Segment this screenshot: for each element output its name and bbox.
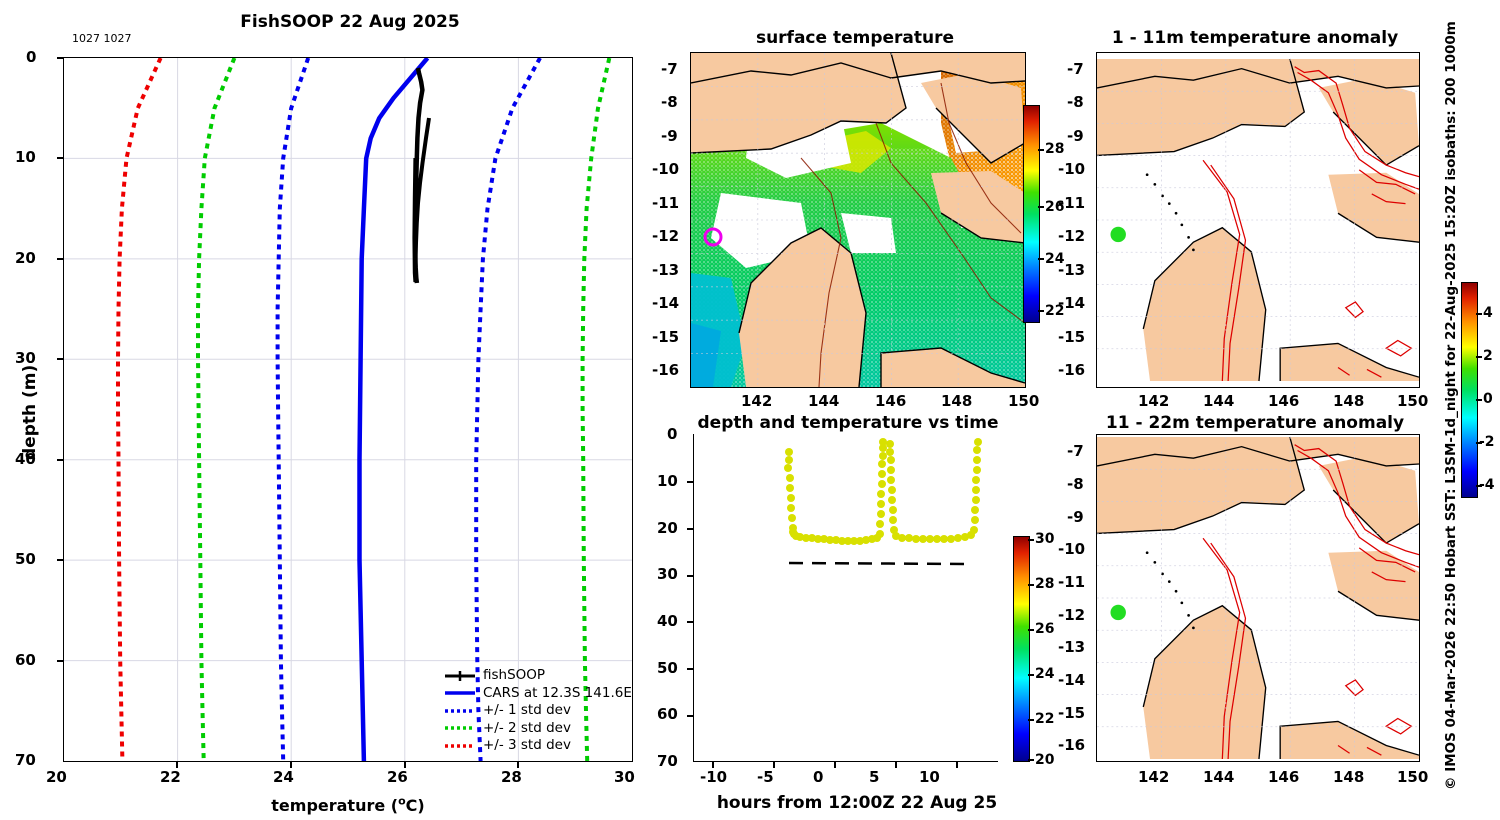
profile-curves [64, 58, 632, 761]
profile-xtick-mark [517, 762, 519, 768]
ts-ytick-0: 0 [667, 425, 677, 443]
sst-ytick--12: -12 [652, 227, 679, 245]
an2-ytick--15: -15 [1058, 704, 1085, 722]
profile-xtick-26: 26 [387, 768, 408, 786]
legend-swatch-dotted-red [443, 739, 477, 753]
profile-ytick-60: 60 [15, 651, 36, 669]
ts-xtick-mark [773, 762, 775, 768]
sst-map[interactable] [690, 52, 1026, 388]
sst-xtick-144: 144 [808, 392, 839, 410]
an1-ytick--9: -9 [1067, 127, 1084, 145]
ts-cb-tick-20: 20 [1035, 752, 1054, 768]
profile-ytick-mark [57, 660, 63, 662]
sst-ytick--9: -9 [661, 127, 678, 145]
legend-label: +/- 3 std dev [483, 737, 571, 755]
profile-xtick-mark [404, 762, 406, 768]
ts-ytick-mark [687, 528, 693, 530]
an2-xtick-148: 148 [1333, 768, 1364, 786]
an1-ytick--16: -16 [1058, 361, 1085, 379]
an2-ytick--14: -14 [1058, 671, 1085, 689]
legend-label: CARS at 12.3S 141.6E [483, 685, 632, 703]
ts-cb-mark [1028, 539, 1034, 541]
an2-xtick-150: 150 [1397, 768, 1428, 786]
an1-xtick-150: 150 [1397, 392, 1428, 410]
sst-map-title: surface temperature [690, 28, 1020, 48]
ts-xtick-mark [956, 762, 958, 768]
anomaly-bottom-title: 11 - 22m temperature anomaly [1090, 413, 1420, 433]
an-cb-mark [1476, 399, 1482, 401]
ts-ytick-30: 30 [657, 565, 678, 583]
profile-ytick-mark [57, 459, 63, 461]
profile-ytick-0: 0 [26, 48, 36, 66]
ts-xtick-mark [712, 762, 714, 768]
legend-item-3std[interactable]: +/- 3 std dev [443, 737, 632, 755]
ts-cb-mark [1028, 719, 1034, 721]
ts-xaxis-label: hours from 12:00Z 22 Aug 25 [707, 793, 1007, 813]
ts-cb-tick-28: 28 [1035, 576, 1054, 592]
sst-xtick-148: 148 [941, 392, 972, 410]
timeseries-plot-area [693, 434, 998, 762]
profile-ytick-20: 20 [15, 249, 36, 267]
ts-cb-tick-24: 24 [1035, 666, 1054, 682]
ts-xtick-5: 5 [869, 768, 879, 786]
an1-xtick-142: 142 [1138, 392, 1169, 410]
legend-swatch-dotted-blue [443, 704, 477, 718]
an1-ytick--13: -13 [1058, 261, 1085, 279]
sst-cb-mark [1038, 149, 1044, 151]
profile-xtick-mark [176, 762, 178, 768]
sst-ytick--7: -7 [661, 60, 678, 78]
an-cb-tick-0: 0 [1483, 391, 1493, 407]
profile-xtick-mark [290, 762, 292, 768]
profile-ytick-70: 70 [15, 751, 36, 769]
ts-cb-mark [1028, 584, 1034, 586]
an2-xtick-144: 144 [1203, 768, 1234, 786]
ts-cb-tick-26: 26 [1035, 621, 1054, 637]
sst-cb-tick-28: 28 [1045, 141, 1064, 157]
an1-ytick--11: -11 [1058, 194, 1085, 212]
an2-xtick-146: 146 [1268, 768, 1299, 786]
figure-credit: © IMOS 04-Mar-2026 22:50 Hobart SST: L3S… [1443, 21, 1459, 790]
an1-ytick--14: -14 [1058, 294, 1085, 312]
ts-cb-mark [1028, 674, 1034, 676]
profile-ytick-mark [57, 157, 63, 159]
an-cb-tick-4: 4 [1483, 305, 1493, 321]
profile-plot-area [63, 57, 633, 762]
ts-ytick-mark [687, 575, 693, 577]
bottom-depth-line [789, 563, 972, 564]
an1-ytick--10: -10 [1058, 160, 1085, 178]
legend-label: +/- 1 std dev [483, 702, 571, 720]
an2-ytick--13: -13 [1058, 638, 1085, 656]
an2-ytick--11: -11 [1058, 573, 1085, 591]
profile-xtick-30: 30 [614, 768, 635, 786]
anomaly-top-title: 1 - 11m temperature anomaly [1090, 28, 1420, 48]
profile-xtick-22: 22 [160, 768, 181, 786]
sst-ytick--11: -11 [652, 194, 679, 212]
legend-label: +/- 2 std dev [483, 720, 571, 738]
station-marker-icon [1110, 605, 1125, 620]
ts-ytick-40: 40 [657, 612, 678, 630]
sst-xtick-150: 150 [1008, 392, 1039, 410]
legend-swatch-solid-black [443, 669, 477, 683]
sst-ytick--14: -14 [652, 294, 679, 312]
ts-ytick-10: 10 [657, 472, 678, 490]
profile-ytick-10: 10 [15, 148, 36, 166]
timeseries-scatter [694, 434, 998, 761]
ts-cb-mark [1028, 629, 1034, 631]
an2-ytick--7: -7 [1067, 442, 1084, 460]
anomaly-top-map[interactable] [1096, 52, 1420, 388]
an2-ytick--9: -9 [1067, 508, 1084, 526]
ts-xtick-mark [834, 762, 836, 768]
sst-ytick--8: -8 [661, 93, 678, 111]
ts-ytick-mark [687, 481, 693, 483]
profile-xaxis-label: temperature (oC) [163, 795, 533, 815]
ts-cb-mark [1028, 759, 1034, 761]
profile-ytick-mark [57, 358, 63, 360]
an2-ytick--12: -12 [1058, 606, 1085, 624]
profile-ytick-mark [57, 57, 63, 59]
ts-cb-tick-30: 30 [1035, 531, 1054, 547]
timeseries-colorbar [1013, 536, 1030, 762]
legend-item-cars[interactable]: CARS at 12.3S 141.6E [443, 685, 632, 703]
timeseries-title: depth and temperature vs time [672, 413, 1024, 433]
profile-legend: fishSOOP CARS at 12.3S 141.6E +/- 1 std … [443, 667, 632, 755]
ts-xtick--10: -10 [700, 768, 727, 786]
legend-swatch-solid-blue [443, 686, 477, 700]
an1-xtick-148: 148 [1333, 392, 1364, 410]
an-cb-mark [1476, 313, 1482, 315]
ts-ytick-20: 20 [657, 519, 678, 537]
ts-ytick-mark [687, 621, 693, 623]
profile-xtick-28: 28 [501, 768, 522, 786]
an-cb-mark [1476, 485, 1482, 487]
grid [64, 58, 632, 761]
ts-ytick-50: 50 [657, 659, 678, 677]
anomaly-bottom-map[interactable] [1096, 434, 1420, 762]
sst-cb-mark [1038, 310, 1044, 312]
legend-item-1std[interactable]: +/- 1 std dev [443, 702, 632, 720]
sst-cb-mark [1038, 258, 1044, 260]
an1-ytick--7: -7 [1067, 60, 1084, 78]
ts-xtick-10: 10 [919, 768, 940, 786]
profile-xtick-20: 20 [46, 768, 67, 786]
ts-ytick-mark [687, 668, 693, 670]
an2-ytick--8: -8 [1067, 475, 1084, 493]
an2-ytick--16: -16 [1058, 736, 1085, 754]
profile-ytick-50: 50 [15, 550, 36, 568]
ts-xtick--5: -5 [757, 768, 774, 786]
profile-ytick-mark [57, 559, 63, 561]
profile-xtick-24: 24 [273, 768, 294, 786]
profile-ytick-mark [57, 258, 63, 260]
legend-item-fishsoop[interactable]: fishSOOP [443, 667, 632, 685]
an2-ytick--10: -10 [1058, 540, 1085, 558]
ts-xtick-0: 0 [813, 768, 823, 786]
an2-xtick-142: 142 [1138, 768, 1169, 786]
ts-xtick-mark [895, 762, 897, 768]
sst-xtick-142: 142 [741, 392, 772, 410]
ts-ytick-70: 70 [657, 752, 678, 770]
sst-ytick--16: -16 [652, 361, 679, 379]
station-marker-icon [1110, 227, 1125, 242]
sst-ytick--15: -15 [652, 328, 679, 346]
xaxis-label-text: temperature (oC) [271, 796, 424, 815]
an1-ytick--12: -12 [1058, 227, 1085, 245]
an1-ytick--8: -8 [1067, 93, 1084, 111]
page-title: FishSOOP 22 Aug 2025 [60, 12, 640, 32]
ts-cb-tick-22: 22 [1035, 711, 1054, 727]
sst-xtick-146: 146 [875, 392, 906, 410]
ts-ytick-mark [687, 715, 693, 717]
sst-ytick--10: -10 [652, 160, 679, 178]
sst-ytick--13: -13 [652, 261, 679, 279]
an-cb-mark [1476, 356, 1482, 358]
an1-ytick--15: -15 [1058, 328, 1085, 346]
an-cb-mark [1476, 442, 1482, 444]
an1-xtick-146: 146 [1268, 392, 1299, 410]
sst-colorbar [1023, 105, 1040, 323]
legend-label: fishSOOP [483, 667, 545, 685]
an-cb-tick-2: 2 [1483, 348, 1493, 364]
sst-cb-mark [1038, 206, 1044, 208]
legend-item-2std[interactable]: +/- 2 std dev [443, 720, 632, 738]
legend-swatch-dotted-green [443, 721, 477, 735]
density-annotation: 1027 1027 [72, 32, 132, 45]
ts-ytick-60: 60 [657, 705, 678, 723]
profile-yaxis-label: depth (m) [20, 365, 40, 460]
an1-xtick-144: 144 [1203, 392, 1234, 410]
